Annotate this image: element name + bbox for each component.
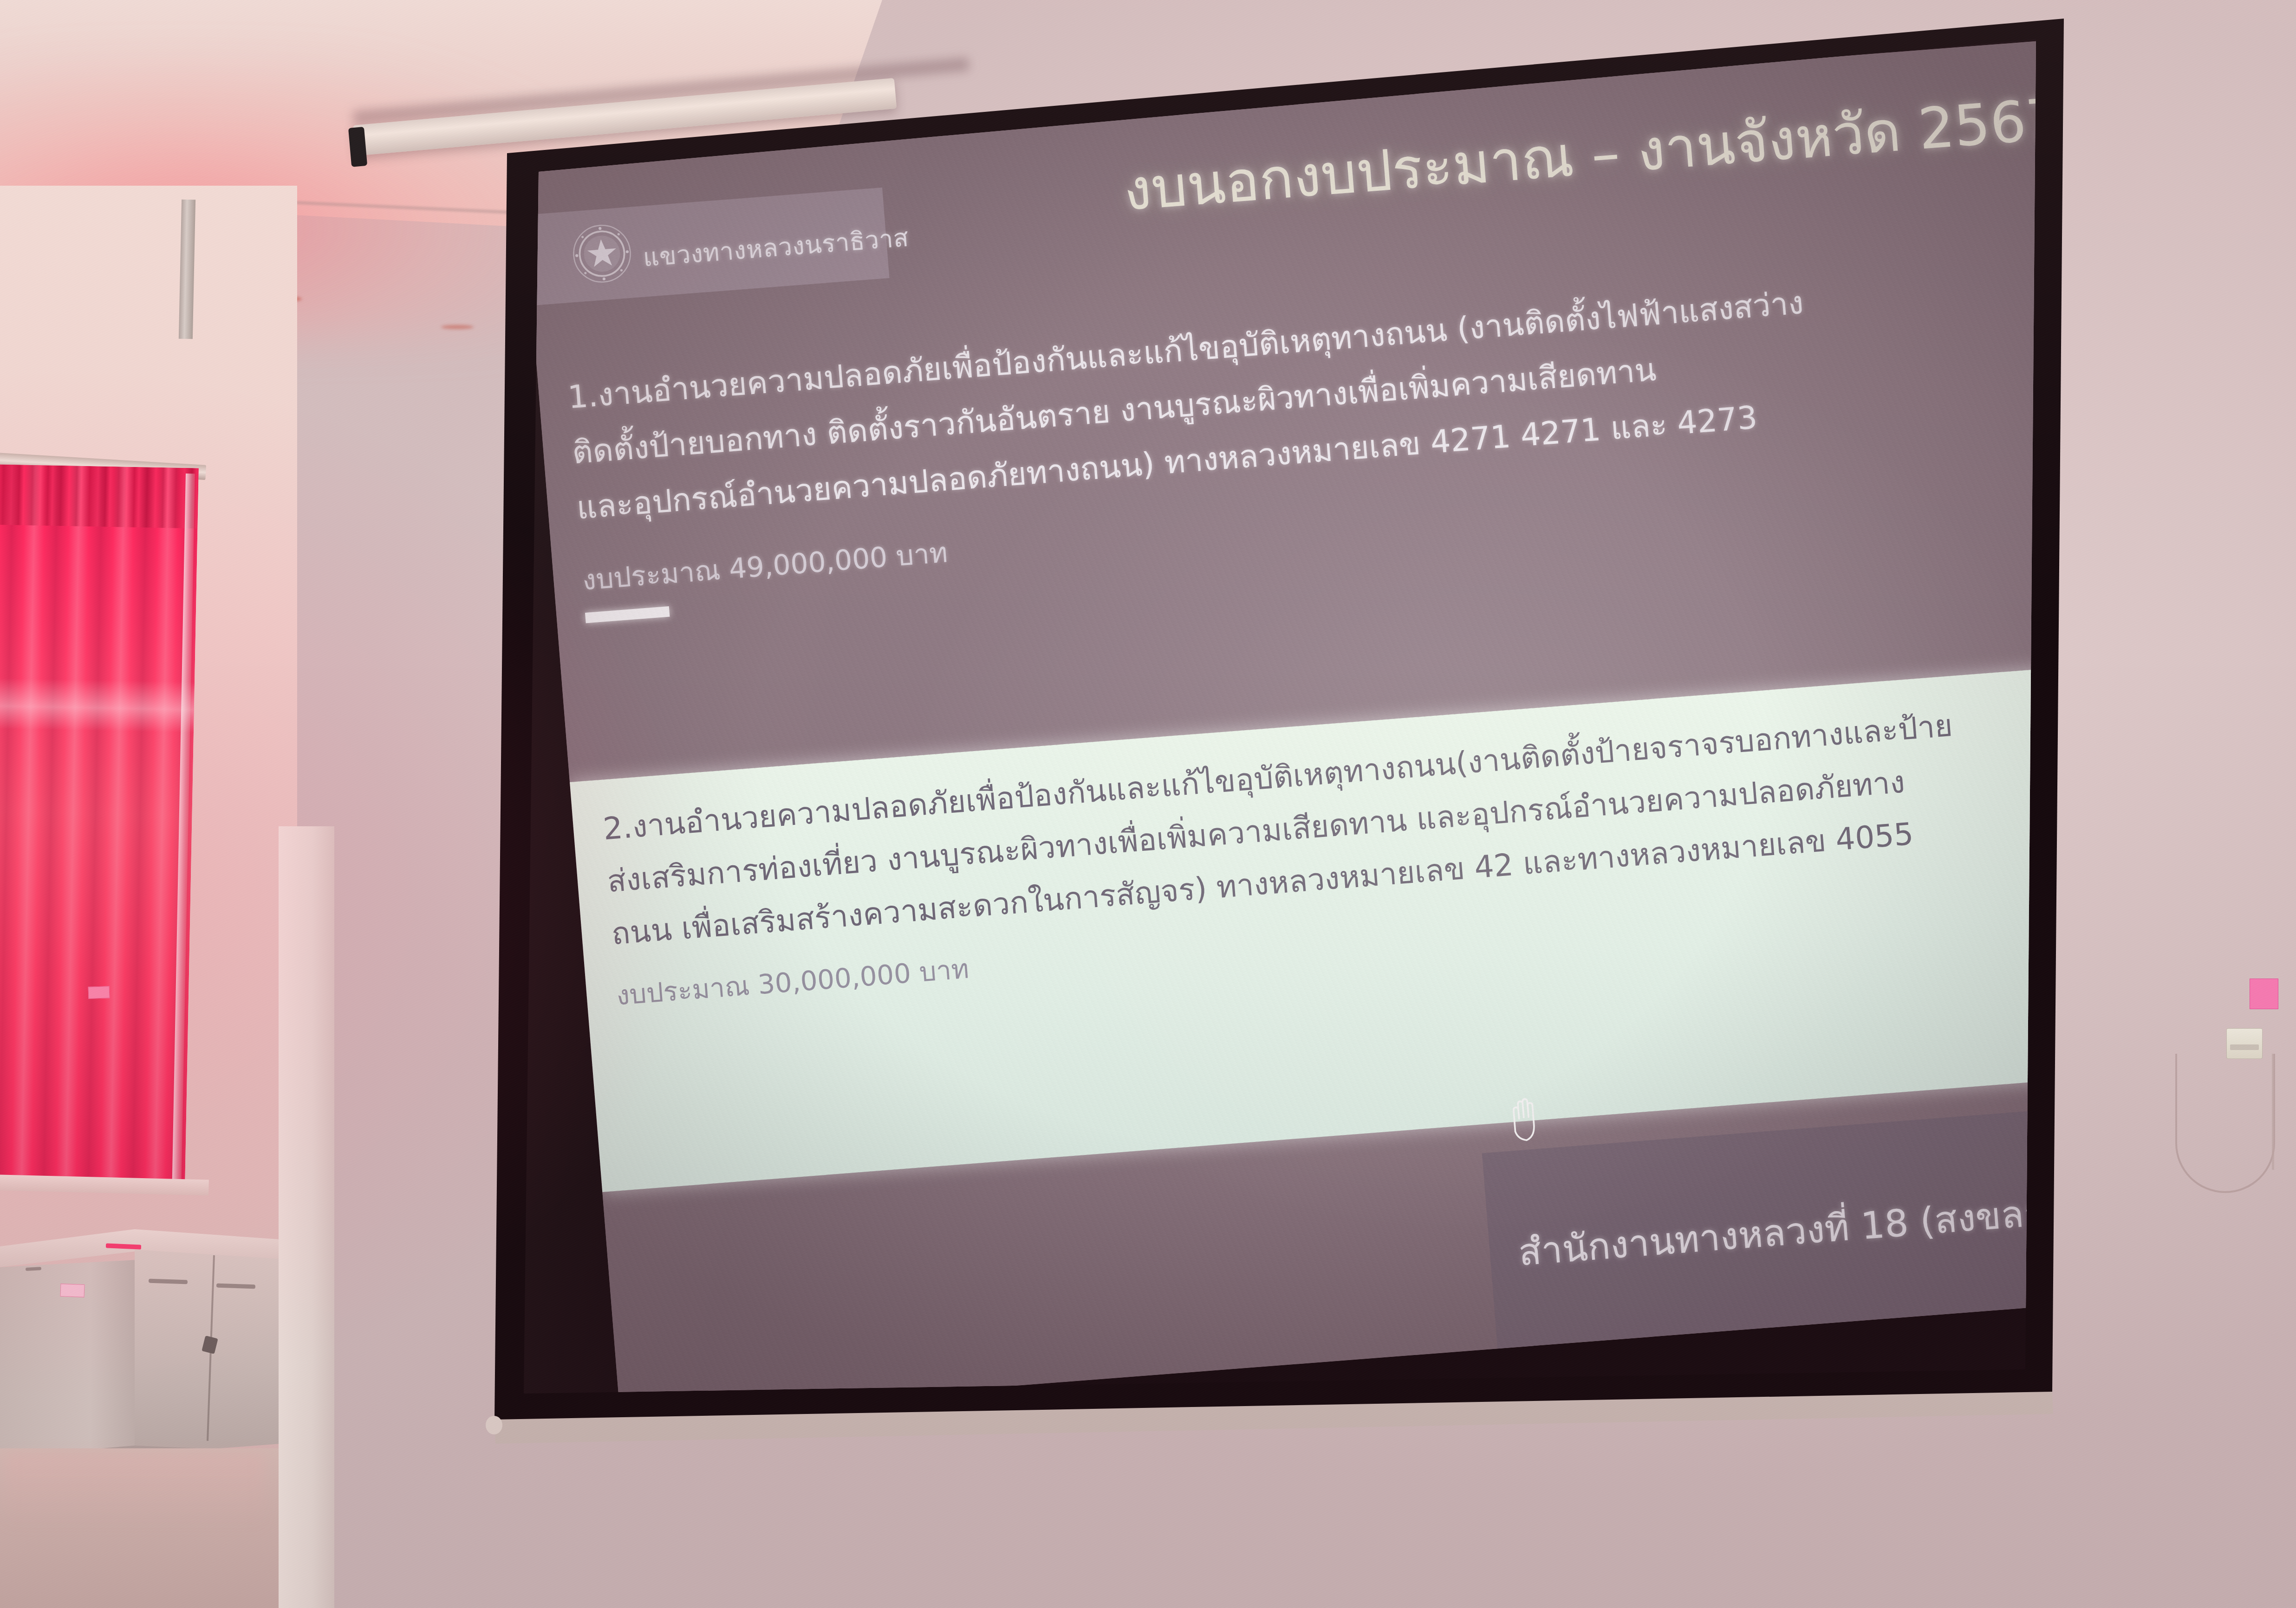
cabinet-asset-label bbox=[60, 1284, 85, 1297]
outlet-pink-sticker bbox=[2250, 979, 2278, 1009]
floor-reflection bbox=[5, 1453, 265, 1532]
hanging-cable-loop bbox=[2175, 1054, 2275, 1193]
room-photograph: แขวงทางหลวงนราธิวาส งบนอกงบประมาณ – งานจ… bbox=[0, 0, 2296, 1608]
projected-slide-area[interactable]: แขวงทางหลวงนราธิวาส งบนอกงบประมาณ – งานจ… bbox=[353, 19, 2099, 1541]
curtain-pleat-header bbox=[0, 464, 199, 529]
outlet-socket-slot bbox=[2230, 1044, 2259, 1050]
storage-cabinet[interactable] bbox=[0, 1229, 281, 1471]
wall-corner-column bbox=[279, 826, 334, 1608]
hand-cursor-icon bbox=[1504, 1091, 1546, 1146]
slide-perspective-wrapper: แขวงทางหลวงนราธิวาส งบนอกงบประมาณ – งานจ… bbox=[520, 38, 2099, 1435]
screen-roller-end-cap bbox=[348, 127, 367, 167]
curtain-fabric bbox=[0, 464, 199, 1192]
presentation-slide: แขวงทางหลวงนราธิวาส งบนอกงบประมาณ – งานจ… bbox=[520, 38, 2099, 1416]
curtain-light-sheen bbox=[0, 678, 195, 733]
projection-screen-assembly[interactable]: แขวงทางหลวงนราธิวาส งบนอกงบประมาณ – งานจ… bbox=[353, 19, 2099, 1541]
cable-tail bbox=[2272, 1054, 2274, 1170]
wall-sticker bbox=[88, 986, 110, 999]
department-of-highways-seal-icon bbox=[570, 221, 635, 286]
ceiling-conduit-pipe-icon bbox=[179, 200, 195, 339]
screen-bar-end-knob bbox=[486, 1416, 502, 1434]
window-curtain[interactable] bbox=[0, 464, 199, 1192]
